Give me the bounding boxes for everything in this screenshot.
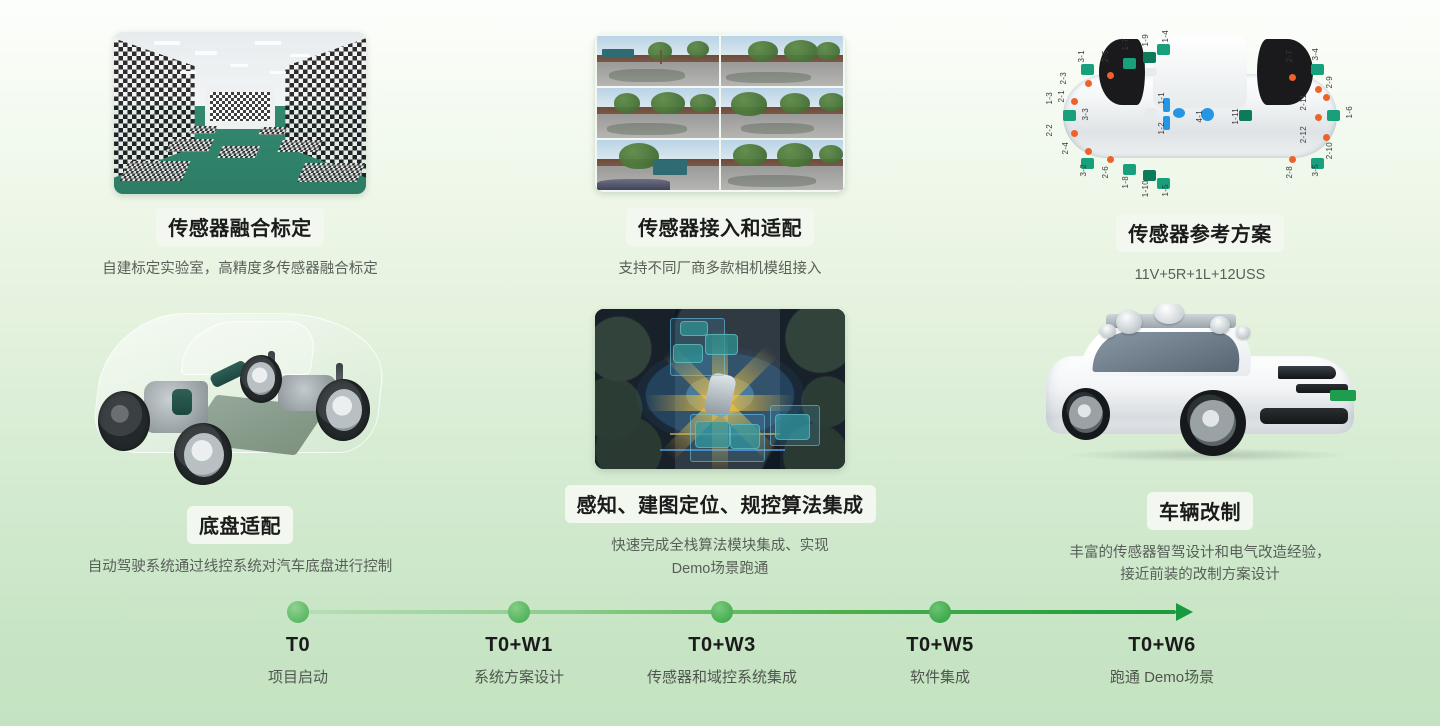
card-sensor-reference-solution: 1-3 2-1 2-2 2-3 2-4 3-1 3-2 3-3 2-5 2-6 … xyxy=(960,0,1440,280)
camera-view xyxy=(597,36,719,86)
card-title: 传感器融合标定 xyxy=(156,208,324,246)
timeline-dot[interactable] xyxy=(287,601,309,623)
sensor-label: 2-4 xyxy=(1061,142,1070,154)
card-title: 车辆改制 xyxy=(1147,492,1253,530)
thumb-wrap xyxy=(595,304,845,473)
sensor-label: 1-3 xyxy=(1045,92,1054,104)
sensor-label: 1-2 xyxy=(1157,122,1166,134)
card-description: 支持不同厂商多款相机模组接入 xyxy=(619,258,822,280)
thumb-wrap xyxy=(92,304,388,494)
sensor-label: 3-2 xyxy=(1079,164,1088,176)
thumb-wrap: 1-3 2-1 2-2 2-3 2-4 3-1 3-2 3-3 2-5 2-6 … xyxy=(1035,30,1365,202)
sensor-label: 2-3 xyxy=(1059,72,1068,84)
sensor-label: 3-1 xyxy=(1077,50,1086,62)
card-title: 底盘适配 xyxy=(187,506,293,544)
milestone-description: 系统方案设计 xyxy=(474,666,564,687)
capability-card-grid: 传感器融合标定 自建标定实验室，高精度多传感器融合标定 xyxy=(0,0,1440,580)
timeline-milestone-t0w1[interactable]: T0+W1 系统方案设计 xyxy=(474,634,564,687)
card-title: 传感器接入和适配 xyxy=(626,208,814,246)
timeline-milestone-t0w5[interactable]: T0+W5 软件集成 xyxy=(906,634,974,687)
camera-view xyxy=(597,140,719,190)
sensor-label: 2-2 xyxy=(1045,124,1054,136)
sensor-label: 2-8 xyxy=(1285,166,1294,178)
timeline-dot[interactable] xyxy=(711,601,733,623)
card-title: 传感器参考方案 xyxy=(1116,214,1284,252)
milestone-code: T0 xyxy=(268,634,328,657)
milestone-code: T0+W3 xyxy=(647,634,797,657)
camera-view xyxy=(721,36,843,86)
sensor-label: 3-3 xyxy=(1081,108,1090,120)
milestone-code: T0+W5 xyxy=(906,634,974,657)
sensor-label: 1-1 xyxy=(1157,92,1166,104)
thumb-wrap xyxy=(114,30,366,196)
sensor-label: 2-1 xyxy=(1057,90,1066,102)
sensor-label: 2-12 xyxy=(1299,126,1308,143)
sensor-label: 1-7 xyxy=(1121,38,1130,50)
camera-view xyxy=(721,140,843,190)
timeline-milestone-t0w6[interactable]: T0+W6 跑通 Demo场景 xyxy=(1110,634,1214,687)
thumb-wrap xyxy=(595,30,845,196)
card-description-line2: 接近前装的改制方案设计 xyxy=(1070,564,1331,586)
infographic-board: 传感器融合标定 自建标定实验室，高精度多传感器融合标定 xyxy=(0,0,1440,726)
milestone-description: 项目启动 xyxy=(268,666,328,687)
timeline-milestone-t0[interactable]: T0 项目启动 xyxy=(268,634,328,687)
sensor-label: 2-7 xyxy=(1285,50,1294,62)
card-description-line1: 丰富的传感器智驾设计和电气改造经验， xyxy=(1070,542,1331,564)
sensor-label: 1-4 xyxy=(1161,30,1170,42)
sensor-label: 2-11 xyxy=(1299,94,1308,111)
sensor-label: 1-9 xyxy=(1141,34,1150,46)
sensor-label: 2-10 xyxy=(1325,142,1334,159)
camera-view xyxy=(597,88,719,138)
card-sensor-fusion-calibration: 传感器融合标定 自建标定实验室，高精度多传感器融合标定 xyxy=(0,0,480,280)
card-vehicle-retrofit: 车辆改制 丰富的传感器智驾设计和电气改造经验， 接近前装的改制方案设计 xyxy=(960,280,1440,580)
perception-street-image xyxy=(595,309,845,469)
thumb-wrap xyxy=(1010,304,1390,480)
card-chassis-adaptation: 底盘适配 自动驾驶系统通过线控系统对汽车底盘进行控制 xyxy=(0,280,480,580)
timeline-arrow-icon xyxy=(1176,603,1193,621)
card-title: 感知、建图定位、规控算法集成 xyxy=(565,485,876,523)
sensor-label: 1-5 xyxy=(1161,184,1170,196)
sensor-label: 1-8 xyxy=(1121,176,1130,188)
sensor-label: 4-1 xyxy=(1195,110,1204,122)
milestone-code: T0+W6 xyxy=(1110,634,1214,657)
card-description-line1: 快速完成全栈算法模块集成、实现 xyxy=(611,535,829,557)
card-description: 丰富的传感器智驾设计和电气改造经验， 接近前装的改制方案设计 xyxy=(1070,542,1331,587)
robotaxi-vehicle-image xyxy=(1010,304,1390,480)
sensor-layout-diagram: 1-3 2-1 2-2 2-3 2-4 3-1 3-2 3-3 2-5 2-6 … xyxy=(1035,30,1365,202)
timeline-milestone-t0w3[interactable]: T0+W3 传感器和域控系统集成 xyxy=(647,634,797,687)
card-perception-mapping-planning: 感知、建图定位、规控算法集成 快速完成全栈算法模块集成、实现 Demo场景跑通 xyxy=(480,280,960,580)
card-sensor-integration-adaptation: 传感器接入和适配 支持不同厂商多款相机模组接入 xyxy=(480,0,960,280)
calibration-lab-image xyxy=(114,32,366,194)
sensor-label: 2-9 xyxy=(1325,76,1334,88)
card-description: 快速完成全栈算法模块集成、实现 Demo场景跑通 xyxy=(611,535,829,580)
project-timeline: T0 项目启动 T0+W1 系统方案设计 T0+W3 传感器和域控系统集成 T0… xyxy=(0,590,1440,726)
milestone-description: 传感器和域控系统集成 xyxy=(647,666,797,687)
milestone-description: 跑通 Demo场景 xyxy=(1110,666,1214,687)
timeline-dot[interactable] xyxy=(508,601,530,623)
sensor-label: 1-6 xyxy=(1345,106,1354,118)
sensor-label: 2-6 xyxy=(1101,166,1110,178)
sensor-label: 3-5 xyxy=(1311,164,1320,176)
chassis-render-image xyxy=(92,305,388,493)
card-description-line2: Demo场景跑通 xyxy=(611,558,829,580)
milestone-code: T0+W1 xyxy=(474,634,564,657)
sensor-label: 2-5 xyxy=(1101,50,1110,62)
timeline-track xyxy=(296,610,1176,614)
milestone-description: 软件集成 xyxy=(906,666,974,687)
card-description: 自建标定实验室，高精度多传感器融合标定 xyxy=(102,258,378,280)
sensor-label: 1-10 xyxy=(1141,180,1150,197)
camera-view xyxy=(721,88,843,138)
sensor-label: 3-4 xyxy=(1311,48,1320,60)
sensor-label: 1-11 xyxy=(1231,108,1240,125)
card-description: 自动驾驶系统通过线控系统对汽车底盘进行控制 xyxy=(88,556,393,578)
timeline-dot[interactable] xyxy=(929,601,951,623)
multi-camera-views-image xyxy=(595,34,845,192)
